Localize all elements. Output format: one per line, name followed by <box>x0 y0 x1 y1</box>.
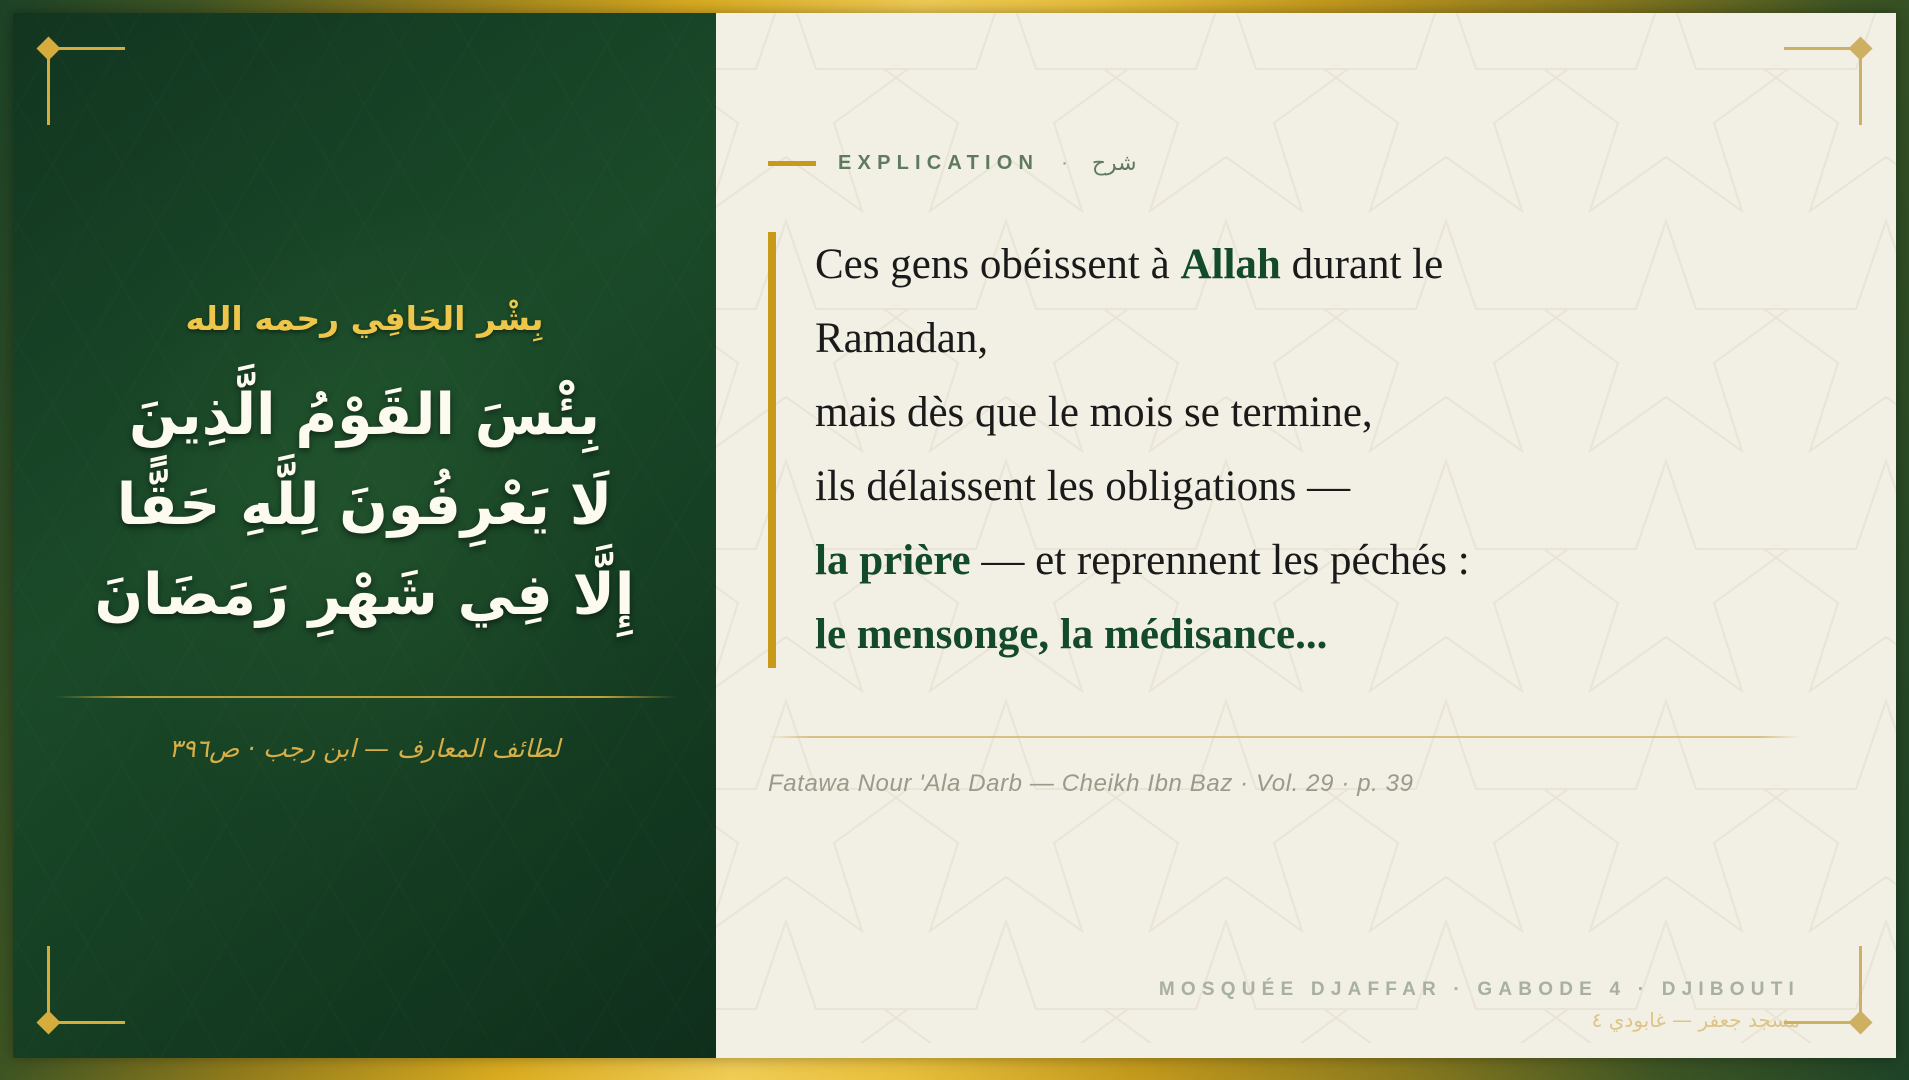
kicker-rule-icon <box>768 161 816 166</box>
explanation-run: — et reprennent les péchés : <box>971 537 1470 584</box>
corner-diamond-icon <box>36 36 60 60</box>
explanation-run: Ces gens obéissent à <box>815 241 1180 288</box>
explanation-source-citation: Fatawa Nour 'Ala Darb — Cheikh Ibn Baz ·… <box>768 770 1800 798</box>
arabic-quote-content: بِشْر الحَافِي رحمه الله بِئْسَ القَوْمُ… <box>13 294 716 763</box>
corner-line-horizontal <box>55 1021 125 1024</box>
explanation-line: la prière — et reprennent les péchés : <box>815 524 1800 598</box>
explanation-run: Ramadan, <box>815 315 988 362</box>
explanation-line: mais dès que le mois se termine, <box>815 376 1800 450</box>
explanation-line: ils délaissent les obligations — <box>815 450 1800 524</box>
left-divider <box>54 696 676 698</box>
corner-line-vertical <box>47 55 50 125</box>
footer-location-arabic: مسجد جعفر — غابودي ٤ <box>768 1008 1800 1032</box>
explanation-run: ils délaissent les obligations — <box>815 463 1350 510</box>
explanation-line: Ramadan, <box>815 302 1800 376</box>
explanation-content: EXPLICATION · شرح Ces gens obéissent à A… <box>716 13 1896 1058</box>
section-kicker: EXPLICATION · شرح <box>768 151 1800 176</box>
corner-ornament-bottom-left <box>47 946 125 1024</box>
arabic-source-citation: لطائف المعارف — ابن رجب · ص٣٩٦ <box>39 734 690 763</box>
explanation-emphasis: le mensonge, la médisance... <box>815 611 1327 658</box>
arabic-quote-line: إِلَّا فِي شَهْرِ رَمَضَانَ <box>39 550 690 640</box>
kicker-label: EXPLICATION <box>838 152 1039 175</box>
explanation-emphasis: Allah <box>1180 241 1280 288</box>
quote-accent-bar <box>768 232 776 668</box>
arabic-quote-panel: بِشْر الحَافِي رحمه الله بِئْسَ القَوْمُ… <box>13 13 716 1058</box>
explanation-quote-block: Ces gens obéissent à Allah durant leRama… <box>768 228 1800 672</box>
arabic-quote-line: بِئْسَ القَوْمُ الَّذِينَ <box>39 370 690 460</box>
explanation-panel: EXPLICATION · شرح Ces gens obéissent à A… <box>716 13 1896 1058</box>
corner-line-horizontal <box>55 47 125 50</box>
right-divider <box>768 736 1800 738</box>
arabic-quote-line: لَا يَعْرِفُونَ لِلَّهِ حَقًّا <box>39 460 690 550</box>
explanation-text: Ces gens obéissent à Allah durant leRama… <box>815 228 1800 672</box>
poster-canvas: بِشْر الحَافِي رحمه الله بِئْسَ القَوْمُ… <box>0 0 1909 1080</box>
corner-line-vertical <box>47 946 50 1016</box>
footer-location: MOSQUÉE DJAFFAR · GABODE 4 · DJIBOUTI <box>768 979 1800 1001</box>
explanation-run: mais dès que le mois se termine, <box>815 389 1373 436</box>
kicker-label-arabic: شرح <box>1092 151 1137 176</box>
arabic-quote-text: بِئْسَ القَوْمُ الَّذِينَ لَا يَعْرِفُون… <box>39 370 690 640</box>
explanation-line: Ces gens obéissent à Allah durant le <box>815 228 1800 302</box>
explanation-emphasis: la prière <box>815 537 971 584</box>
explanation-run: durant le <box>1281 241 1443 288</box>
corner-diamond-icon <box>36 1010 60 1034</box>
explanation-line: le mensonge, la médisance... <box>815 598 1800 672</box>
poster-inner-frame: بِشْر الحَافِي رحمه الله بِئْسَ القَوْمُ… <box>13 13 1896 1058</box>
narrator-attribution: بِشْر الحَافِي رحمه الله <box>39 294 690 344</box>
kicker-separator: · <box>1061 152 1070 175</box>
corner-ornament-top-left <box>47 47 125 125</box>
poster-footer: MOSQUÉE DJAFFAR · GABODE 4 · DJIBOUTI مس… <box>768 979 1800 1058</box>
